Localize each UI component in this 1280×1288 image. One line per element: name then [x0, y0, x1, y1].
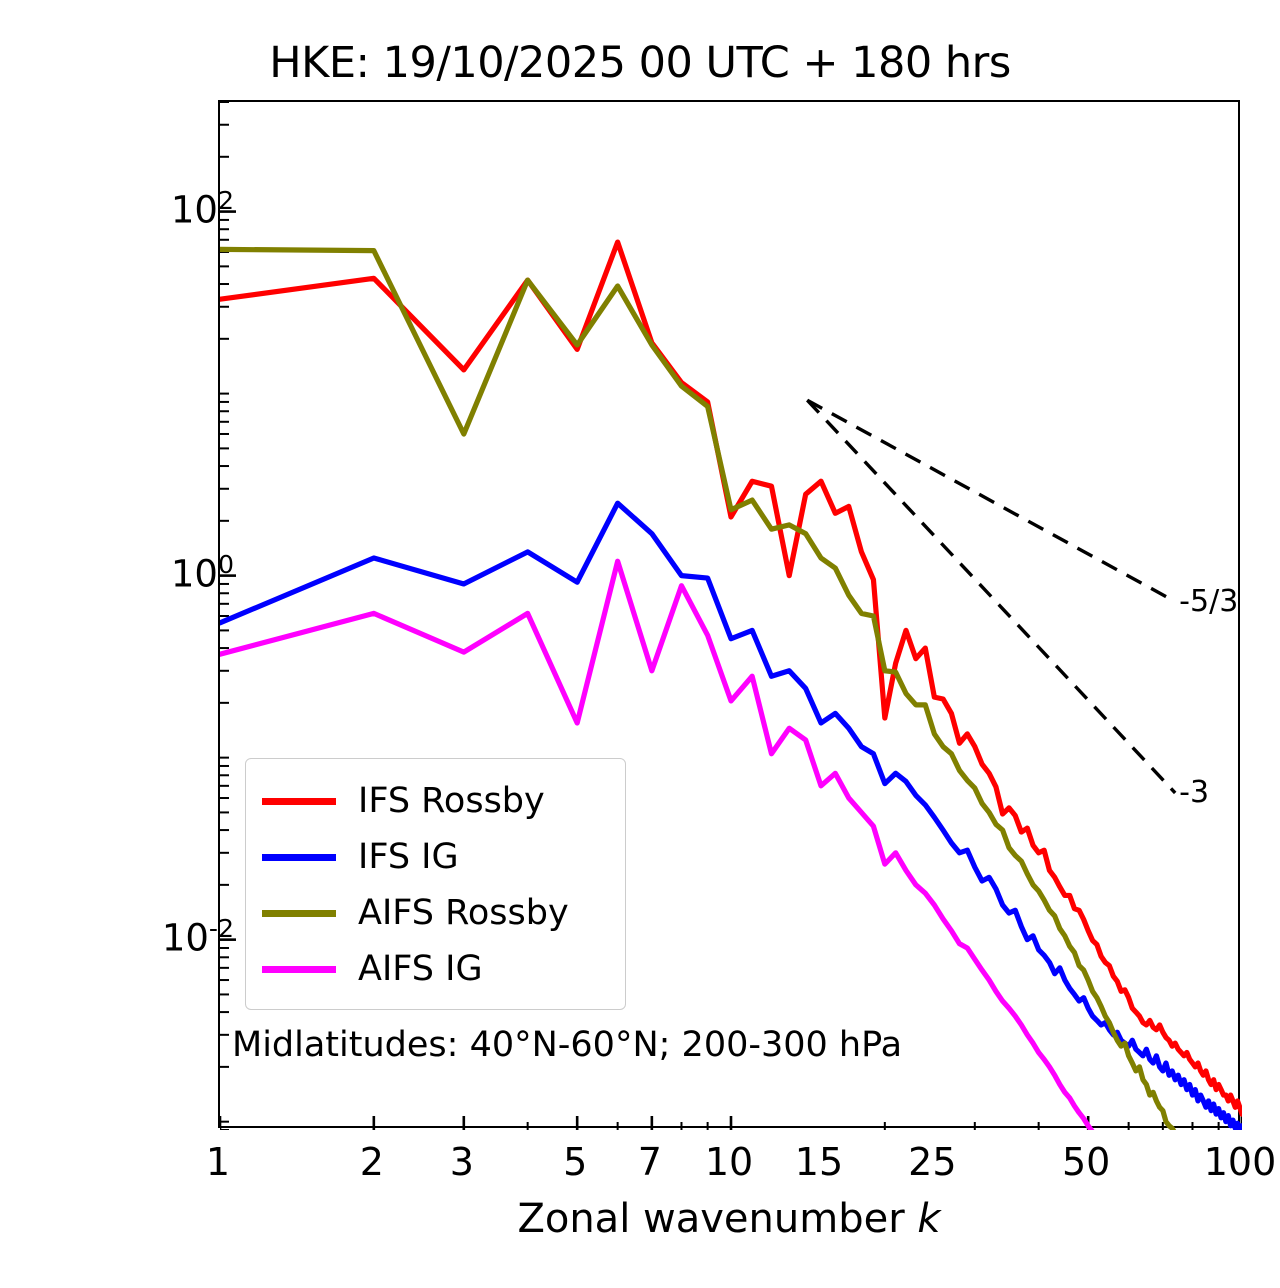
y-tick-mantissa: 10 [162, 916, 209, 959]
legend-item[interactable]: AIFS Rossby [262, 885, 609, 941]
legend-item[interactable]: AIFS IG [262, 941, 609, 997]
y-tick-label: 100 [171, 552, 234, 595]
x-axis-label-text: Zonal wavenumber [517, 1196, 917, 1242]
x-axis-label: Zonal wavenumber k [218, 1196, 1240, 1242]
legend-item-label: IFS Rossby [358, 781, 545, 821]
x-tick-label: 7 [638, 1140, 662, 1184]
legend-color-swatch [262, 854, 336, 861]
y-tick-label: 10-2 [162, 916, 234, 959]
legend-item-label: IFS IG [358, 837, 459, 877]
y-tick-mantissa: 10 [171, 552, 218, 595]
legend-item[interactable]: IFS IG [262, 829, 609, 885]
reference-line-minus-three [807, 400, 1175, 793]
y-tick-label: 102 [171, 188, 234, 231]
x-tick-label: 15 [795, 1140, 843, 1184]
x-tick-label: 25 [908, 1140, 956, 1184]
x-tick-label: 50 [1062, 1140, 1110, 1184]
x-axis-label-symbol: k [917, 1196, 940, 1242]
legend: IFS RossbyIFS IGAIFS RossbyAIFS IG [245, 758, 626, 1010]
chart-title: HKE: 19/10/2025 00 UTC + 180 hrs [0, 38, 1280, 88]
x-tick-label: 100 [1204, 1140, 1277, 1184]
slope-label-five-thirds: -5/3 [1179, 584, 1238, 619]
x-tick-label: 1 [206, 1140, 230, 1184]
y-tick-exponent: 2 [218, 186, 234, 215]
legend-item[interactable]: IFS Rossby [262, 773, 609, 829]
slope-label-minus-three: -3 [1179, 775, 1209, 810]
midlatitudes-note: Midlatitudes: 40°N-60°N; 200-300 hPa [232, 1025, 902, 1065]
legend-color-swatch [262, 910, 336, 917]
reference-line-five-thirds [807, 400, 1175, 601]
legend-item-label: AIFS IG [358, 949, 483, 989]
legend-item-label: AIFS Rossby [358, 893, 569, 933]
y-tick-exponent: 0 [218, 550, 234, 579]
y-tick-exponent: -2 [209, 914, 234, 943]
x-tick-label: 2 [360, 1140, 384, 1184]
x-tick-label: 3 [450, 1140, 474, 1184]
chart-figure: HKE: 19/10/2025 00 UTC + 180 hrs Horizon… [0, 0, 1280, 1288]
legend-color-swatch [262, 966, 336, 973]
x-tick-label: 10 [705, 1140, 753, 1184]
y-tick-mantissa: 10 [171, 188, 218, 231]
x-tick-label: 5 [563, 1140, 587, 1184]
legend-color-swatch [262, 798, 336, 805]
